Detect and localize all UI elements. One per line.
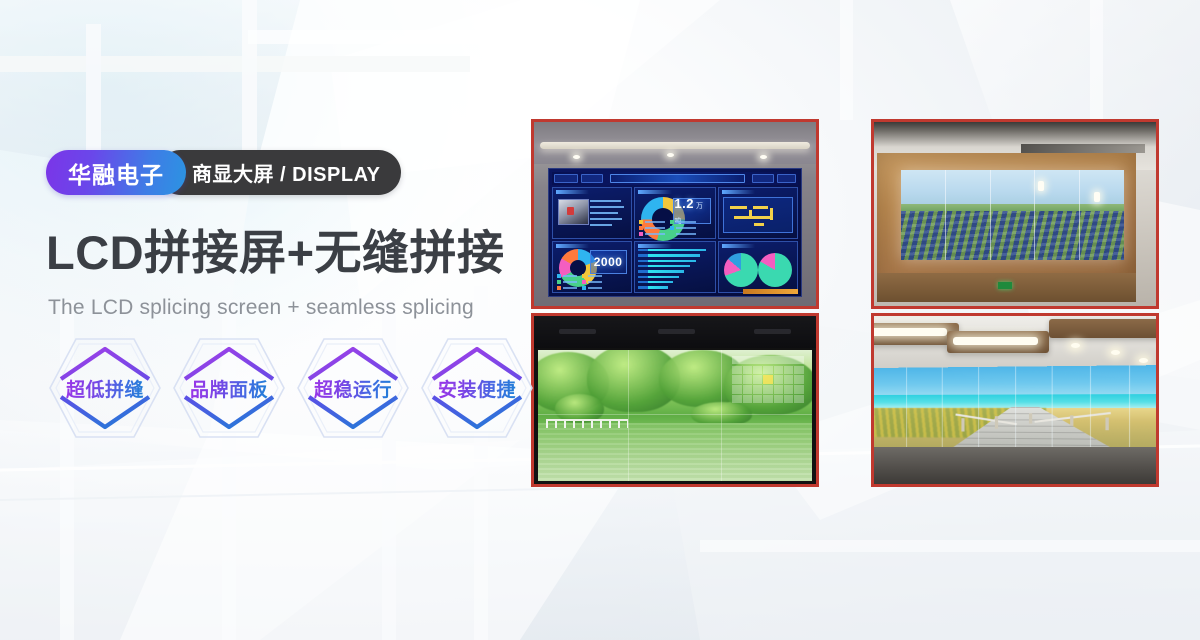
- dashboard-bar-chart: [638, 249, 712, 289]
- feature-badge-label: 安装便捷: [438, 375, 516, 402]
- feature-badge-label: 超稳运行: [314, 375, 392, 402]
- beach-video-wall-screen: [874, 365, 1156, 451]
- brand-badge-row: 华融电子 商显大屏 / DISPLAY: [46, 150, 401, 195]
- exit-sign-icon: [998, 282, 1012, 289]
- photo-beach-boardwalk-video-wall[interactable]: [871, 313, 1159, 487]
- photo-willow-lake-video-wall[interactable]: [531, 313, 819, 487]
- lake-video-wall-screen: [538, 350, 812, 481]
- page-subtitle: The LCD splicing screen + seamless splic…: [48, 296, 474, 320]
- feature-badge-label: 超低拼缝: [66, 375, 144, 402]
- feature-badge-2: 超稳运行: [294, 333, 412, 443]
- page-title: LCD拼接屏+无缝拼接: [46, 228, 505, 277]
- brand-badge: 华融电子: [46, 150, 186, 195]
- feature-badge-1: 品牌面板: [170, 333, 288, 443]
- photo-dashboard-video-wall[interactable]: 1.2万吨: [531, 119, 819, 309]
- feature-badge-row: 超低拼缝 品牌面板 超稳运行: [46, 333, 536, 443]
- kpi-secondary-value: 2000: [594, 255, 623, 269]
- photo-solar-farm-video-wall[interactable]: [871, 119, 1159, 309]
- kpi-value: 1.2: [674, 196, 694, 211]
- solar-video-wall-screen: [901, 170, 1124, 260]
- feature-badge-0: 超低拼缝: [46, 333, 164, 443]
- calendar-overlay: [732, 356, 803, 403]
- category-badge: 商显大屏 / DISPLAY: [158, 150, 401, 195]
- dashboard-pie-charts: [724, 255, 792, 286]
- feature-badge-3: 安装便捷: [418, 333, 536, 443]
- banner-root: 华融电子 商显大屏 / DISPLAY LCD拼接屏+无缝拼接 The LCD …: [0, 0, 1200, 640]
- dashboard-screen: 1.2万吨: [548, 168, 802, 297]
- feature-badge-label: 品牌面板: [190, 375, 268, 402]
- left-content-column: 华融电子 商显大屏 / DISPLAY LCD拼接屏+无缝拼接 The LCD …: [46, 0, 546, 640]
